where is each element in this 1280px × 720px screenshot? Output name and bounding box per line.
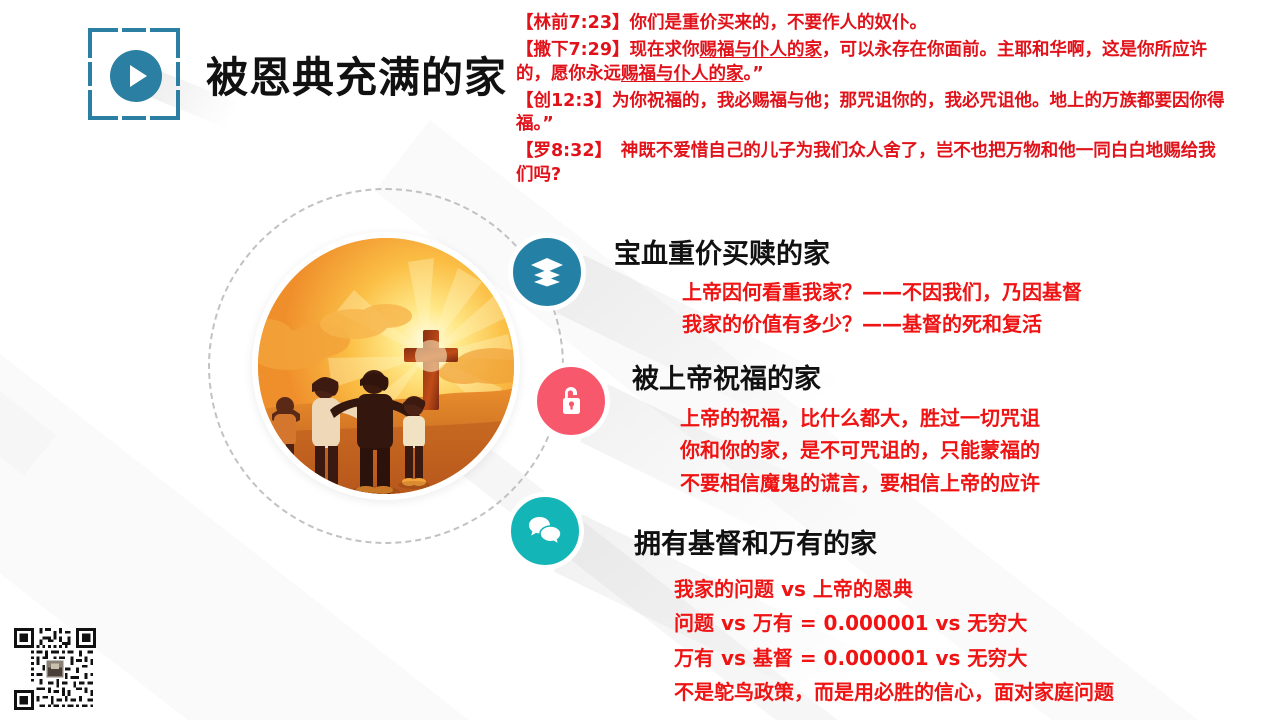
section-line: 我家的问题 vs 上帝的恩典 — [674, 572, 1114, 606]
frame-corner-top-right — [150, 28, 180, 58]
section-line: 不是鸵鸟政策，而是用必胜的信心，面对家庭问题 — [674, 675, 1114, 709]
scripture-text: 现在求你 — [630, 40, 700, 60]
frame-corner-bottom-right — [150, 90, 180, 120]
play-icon[interactable] — [110, 50, 162, 102]
scripture-text: 你们是重价买来的，不要作人的奴仆。 — [630, 13, 928, 33]
section-line: 我家的价值有多少？——基督的死和复活 — [682, 308, 1082, 340]
speech-bubbles-icon[interactable] — [506, 492, 584, 570]
scripture-verse: 【撒下7:29】现在求你赐福与仆人的家，可以永存在你面前。主耶和华啊，这是你所应… — [516, 39, 1228, 86]
frame-edge-left — [88, 62, 92, 86]
scripture-reference: 【林前7:23】 — [516, 13, 630, 33]
section-line: 上帝的祝福，比什么都大，胜过一切咒诅 — [680, 402, 1040, 434]
scripture-reference: 【创12:3】 — [516, 91, 612, 111]
section-line: 你和你的家，是不可咒诅的，只能蒙福的 — [680, 434, 1040, 466]
layers-icon[interactable] — [508, 233, 586, 311]
scripture-emphasis: 赐福与仆人的家 — [621, 64, 744, 84]
frame-corner-top-left — [88, 28, 118, 58]
scripture-emphasis: 赐福与仆人的家 — [700, 40, 823, 60]
hero-illustration — [258, 238, 514, 494]
scripture-text: 神既不爱惜自己的儿子为我们众人舍了，岂不也把万物和他一同白白地赐给我们吗? — [516, 141, 1216, 184]
qr-code-glyph — [14, 628, 96, 710]
scripture-verse: 【创12:3】为你祝福的，我必赐福与他；那咒诅你的，我必咒诅他。地上的万族都要因… — [516, 90, 1228, 137]
frame-edge-bottom — [122, 116, 146, 120]
section-heading: 拥有基督和万有的家 — [634, 522, 877, 561]
section-lines: 我家的问题 vs 上帝的恩典问题 vs 万有 = 0.000001 vs 无穷大… — [674, 572, 1114, 710]
scripture-reference: 【罗8:32】 — [516, 141, 603, 161]
slide-canvas: 被恩典充满的家 【林前7:23】你们是重价买来的，不要作人的奴仆。 【撒下7:2… — [0, 0, 1280, 720]
section-line: 万有 vs 基督 = 0.000001 vs 无穷大 — [674, 641, 1114, 675]
section-line: 上帝因何看重我家？——不因我们，乃因基督 — [682, 276, 1082, 308]
layers-glyph — [530, 257, 564, 287]
frame-corner-bottom-left — [88, 90, 118, 120]
unlock-glyph — [556, 383, 586, 419]
scripture-block: 【林前7:23】你们是重价买来的，不要作人的奴仆。 【撒下7:29】现在求你赐福… — [516, 12, 1228, 191]
section-lines: 上帝因何看重我家？——不因我们，乃因基督我家的价值有多少？——基督的死和复活 — [682, 276, 1082, 341]
section-heading: 宝血重价买赎的家 — [614, 232, 830, 271]
section-heading: 被上帝祝福的家 — [632, 357, 821, 396]
scripture-text: 。” — [744, 64, 764, 84]
section-line: 不要相信魔鬼的谎言，要相信上帝的应许 — [680, 467, 1040, 499]
unlock-icon[interactable] — [532, 362, 610, 440]
scripture-verse: 【罗8:32】 神既不爱惜自己的儿子为我们众人舍了，岂不也把万物和他一同白白地赐… — [516, 140, 1228, 187]
scripture-verse: 【林前7:23】你们是重价买来的，不要作人的奴仆。 — [516, 12, 1228, 35]
page-title: 被恩典充满的家 — [206, 44, 507, 105]
frame-edge-right — [176, 62, 180, 86]
hero-image-family-cross — [258, 238, 514, 494]
logo-frame — [88, 28, 180, 120]
scripture-reference: 【撒下7:29】 — [516, 40, 630, 60]
title-block: 被恩典充满的家 — [88, 28, 507, 120]
play-triangle — [130, 65, 147, 87]
speech-bubbles-glyph — [527, 515, 563, 547]
section-line: 问题 vs 万有 = 0.000001 vs 无穷大 — [674, 606, 1114, 640]
section-lines: 上帝的祝福，比什么都大，胜过一切咒诅你和你的家，是不可咒诅的，只能蒙福的不要相信… — [680, 402, 1040, 499]
scripture-text: 为你祝福的，我必赐福与他；那咒诅你的，我必咒诅他。地上的万族都要因你得福。” — [516, 91, 1225, 134]
qr-code[interactable] — [14, 628, 96, 710]
frame-edge-top — [122, 28, 146, 32]
